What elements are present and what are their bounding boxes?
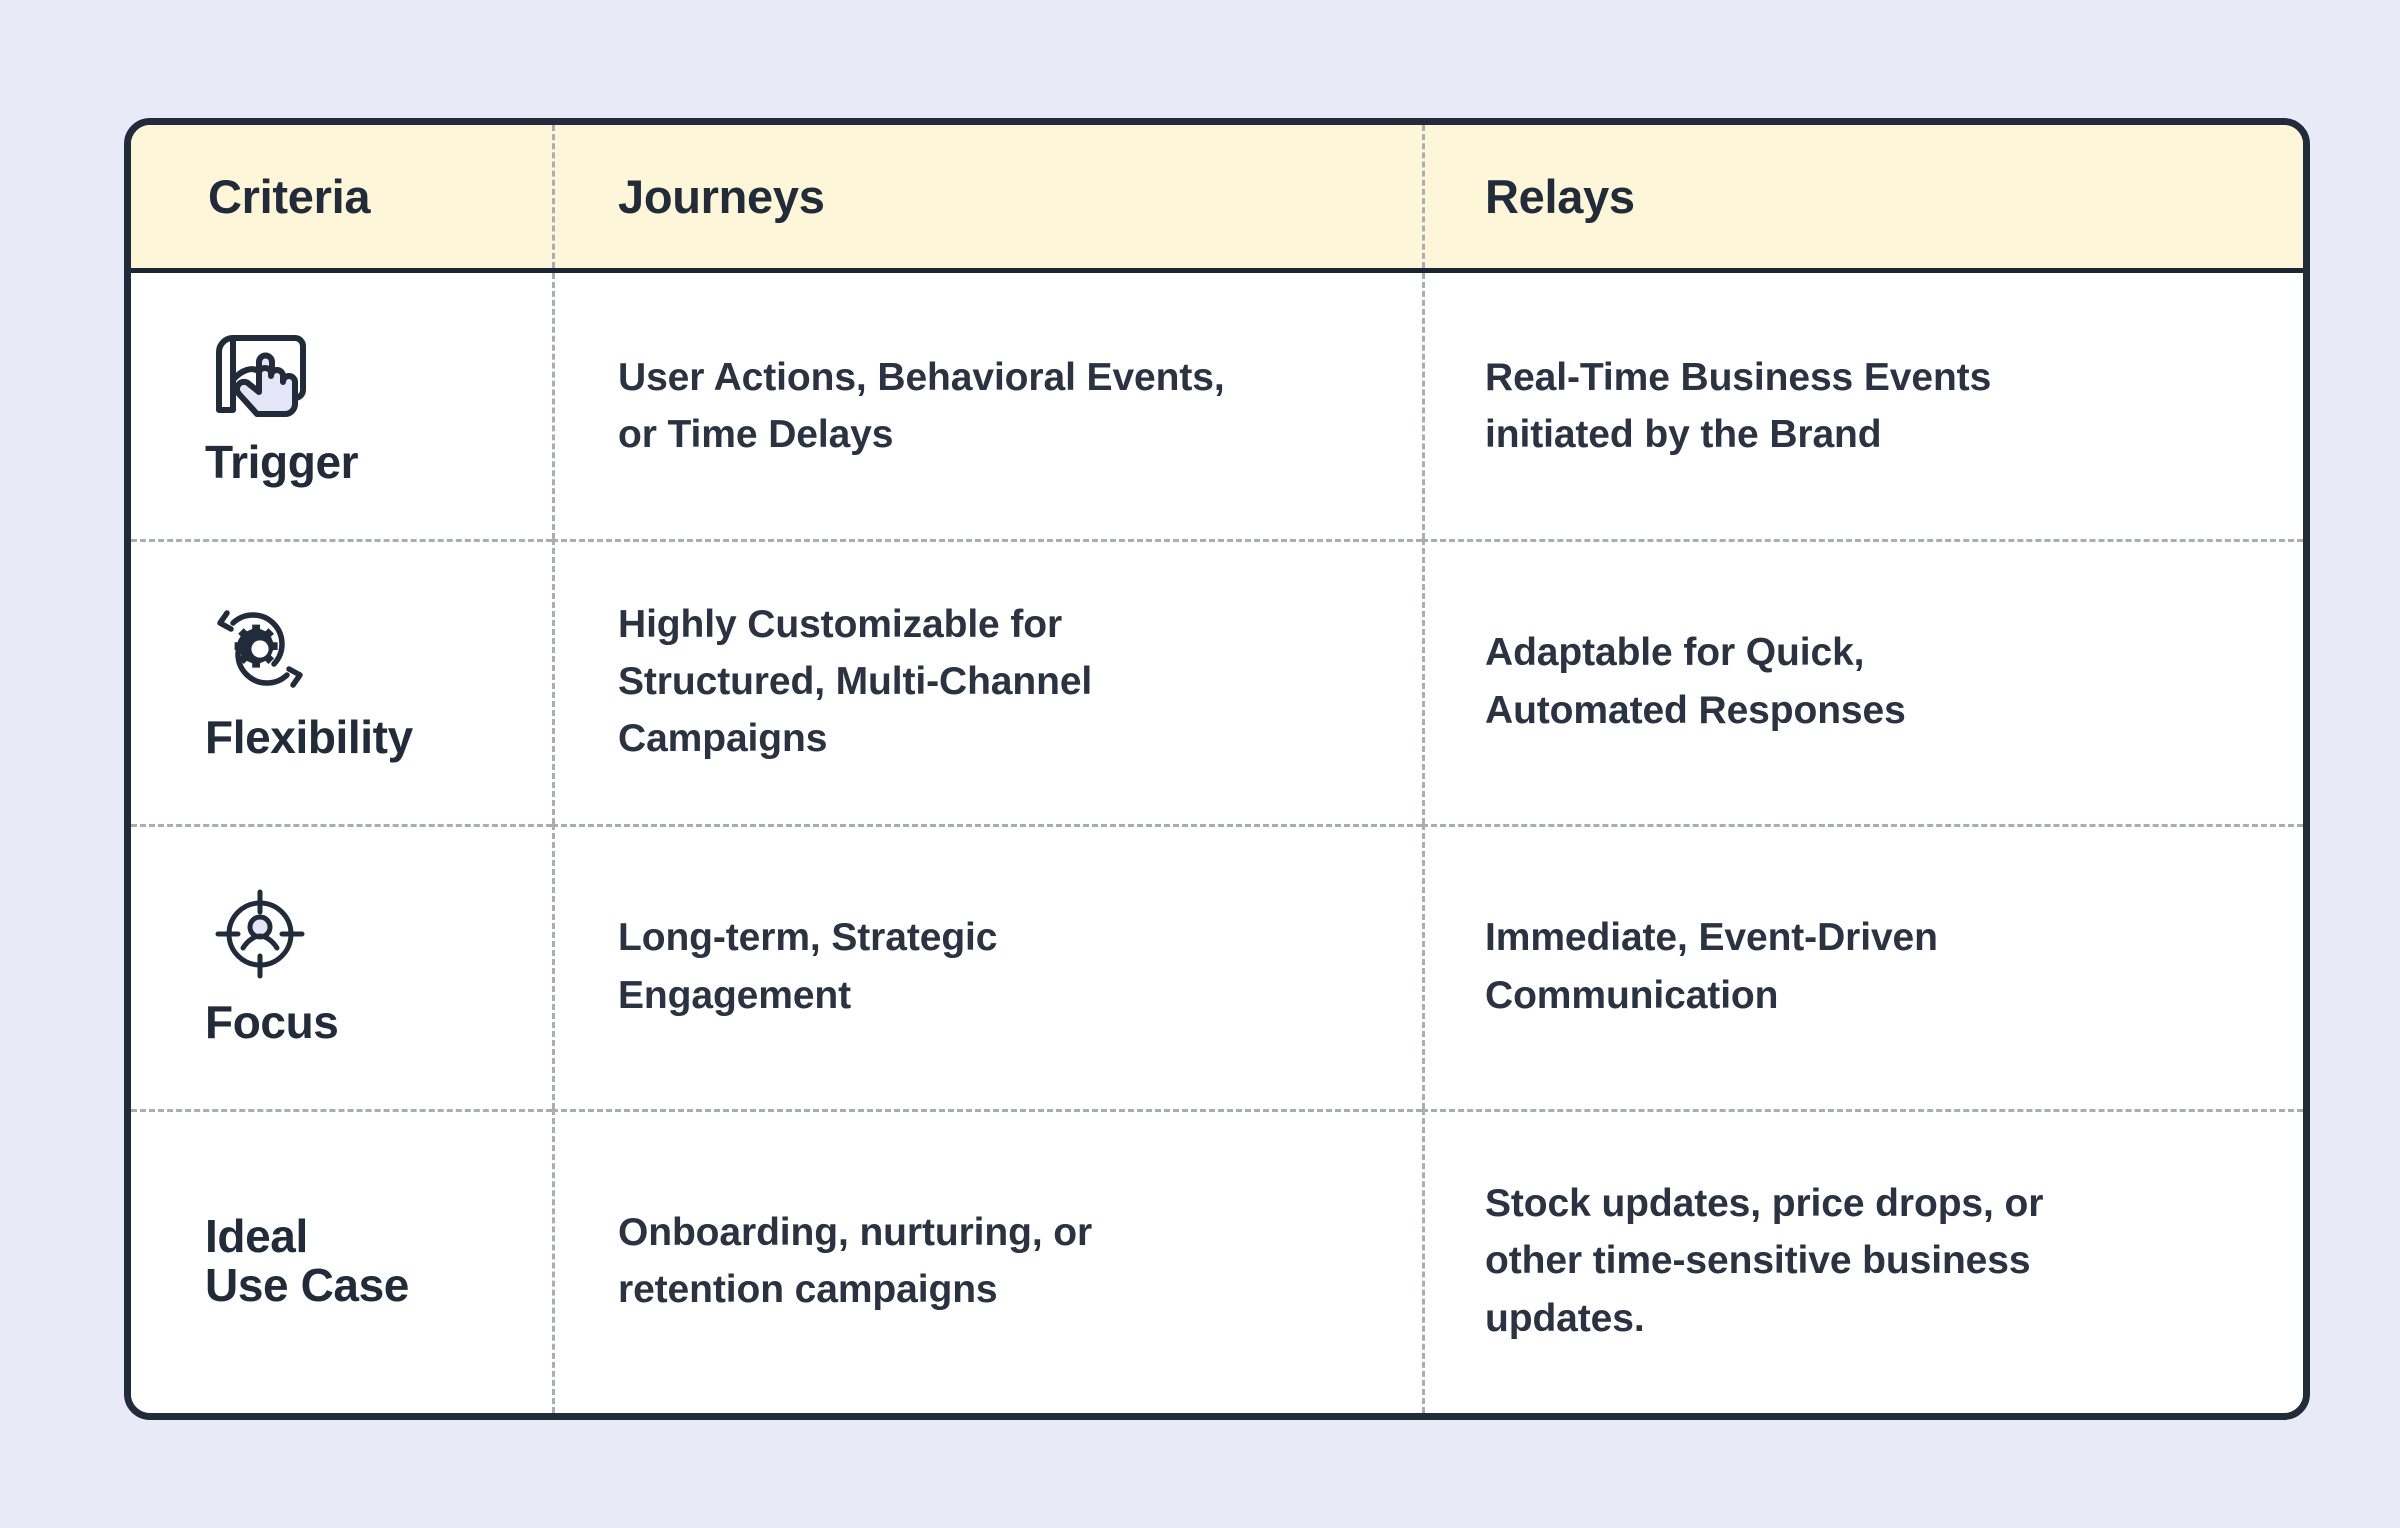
cell-text: User Actions, Behavioral Events, or Time… xyxy=(618,349,1225,464)
criteria-label: Trigger xyxy=(205,438,358,487)
column-header-label: Criteria xyxy=(208,171,370,223)
column-header-criteria: Criteria xyxy=(131,125,552,273)
criteria-label: Focus xyxy=(205,998,338,1047)
cell-text: Real-Time Business Events initiated by t… xyxy=(1485,349,1991,464)
table-row-criteria-trigger: Trigger xyxy=(131,273,552,539)
column-header-journeys: Journeys xyxy=(552,125,1422,273)
criteria-label: Ideal Use Case xyxy=(205,1212,409,1310)
gear-refresh-cycle-icon xyxy=(205,601,323,705)
table-cell-journeys-focus: Long-term, Strategic Engagement xyxy=(552,824,1422,1109)
table-row-criteria-ideal-use-case: Ideal Use Case xyxy=(131,1109,552,1413)
table-cell-journeys-flexibility: Highly Customizable for Structured, Mult… xyxy=(552,539,1422,824)
column-header-relays: Relays xyxy=(1422,125,2303,273)
table-cell-relays-flexibility: Adaptable for Quick, Automated Responses xyxy=(1422,539,2303,824)
cell-text: Stock updates, price drops, or other tim… xyxy=(1485,1175,2043,1347)
cell-text: Immediate, Event-Driven Communication xyxy=(1485,909,1938,1024)
table-row-criteria-focus: Focus xyxy=(131,824,552,1109)
column-header-label: Journeys xyxy=(618,171,825,223)
cell-text: Adaptable for Quick, Automated Responses xyxy=(1485,624,1906,739)
criteria-label: Flexibility xyxy=(205,713,413,762)
table-cell-relays-trigger: Real-Time Business Events initiated by t… xyxy=(1422,273,2303,539)
comparison-table-grid: Criteria Journeys Relays xyxy=(131,125,2303,1413)
hand-tap-screen-icon xyxy=(205,326,323,430)
table-cell-journeys-ideal-use-case: Onboarding, nurturing, or retention camp… xyxy=(552,1109,1422,1413)
table-cell-relays-ideal-use-case: Stock updates, price drops, or other tim… xyxy=(1422,1109,2303,1413)
table-cell-journeys-trigger: User Actions, Behavioral Events, or Time… xyxy=(552,273,1422,539)
table-cell-relays-focus: Immediate, Event-Driven Communication xyxy=(1422,824,2303,1109)
comparison-table-page: Criteria Journeys Relays xyxy=(0,0,2400,1528)
cell-text: Onboarding, nurturing, or retention camp… xyxy=(618,1204,1092,1319)
cell-text: Long-term, Strategic Engagement xyxy=(618,909,997,1024)
table-row-criteria-flexibility: Flexibility xyxy=(131,539,552,824)
cell-text: Highly Customizable for Structured, Mult… xyxy=(618,596,1092,768)
target-person-crosshair-icon xyxy=(205,886,323,990)
column-header-label: Relays xyxy=(1485,171,1635,223)
comparison-table-card: Criteria Journeys Relays xyxy=(124,118,2310,1420)
